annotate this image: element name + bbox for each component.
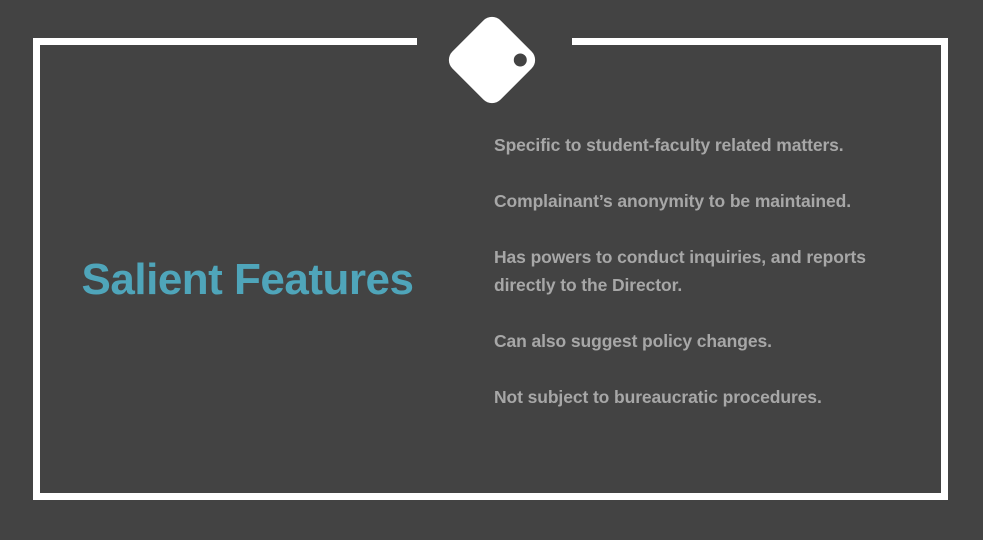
page-title: Salient Features	[60, 254, 435, 306]
list-item: Complainant’s anonymity to be maintained…	[494, 187, 924, 215]
list-item: Not subject to bureaucratic procedures.	[494, 383, 924, 411]
frame-border-bottom	[33, 493, 948, 500]
frame-border-top-left	[33, 38, 417, 45]
slide-canvas: Salient Features Specific to student-fac…	[0, 0, 983, 540]
list-item: Specific to student-faculty related matt…	[494, 131, 924, 159]
list-item: Has powers to conduct inquiries, and rep…	[494, 243, 924, 299]
feature-list: Specific to student-faculty related matt…	[494, 131, 924, 411]
list-item: Can also suggest policy changes.	[494, 327, 924, 355]
frame-border-top-right	[572, 38, 948, 45]
frame-border-left	[33, 38, 40, 500]
tag-icon	[444, 12, 540, 108]
frame-border-right	[941, 38, 948, 500]
